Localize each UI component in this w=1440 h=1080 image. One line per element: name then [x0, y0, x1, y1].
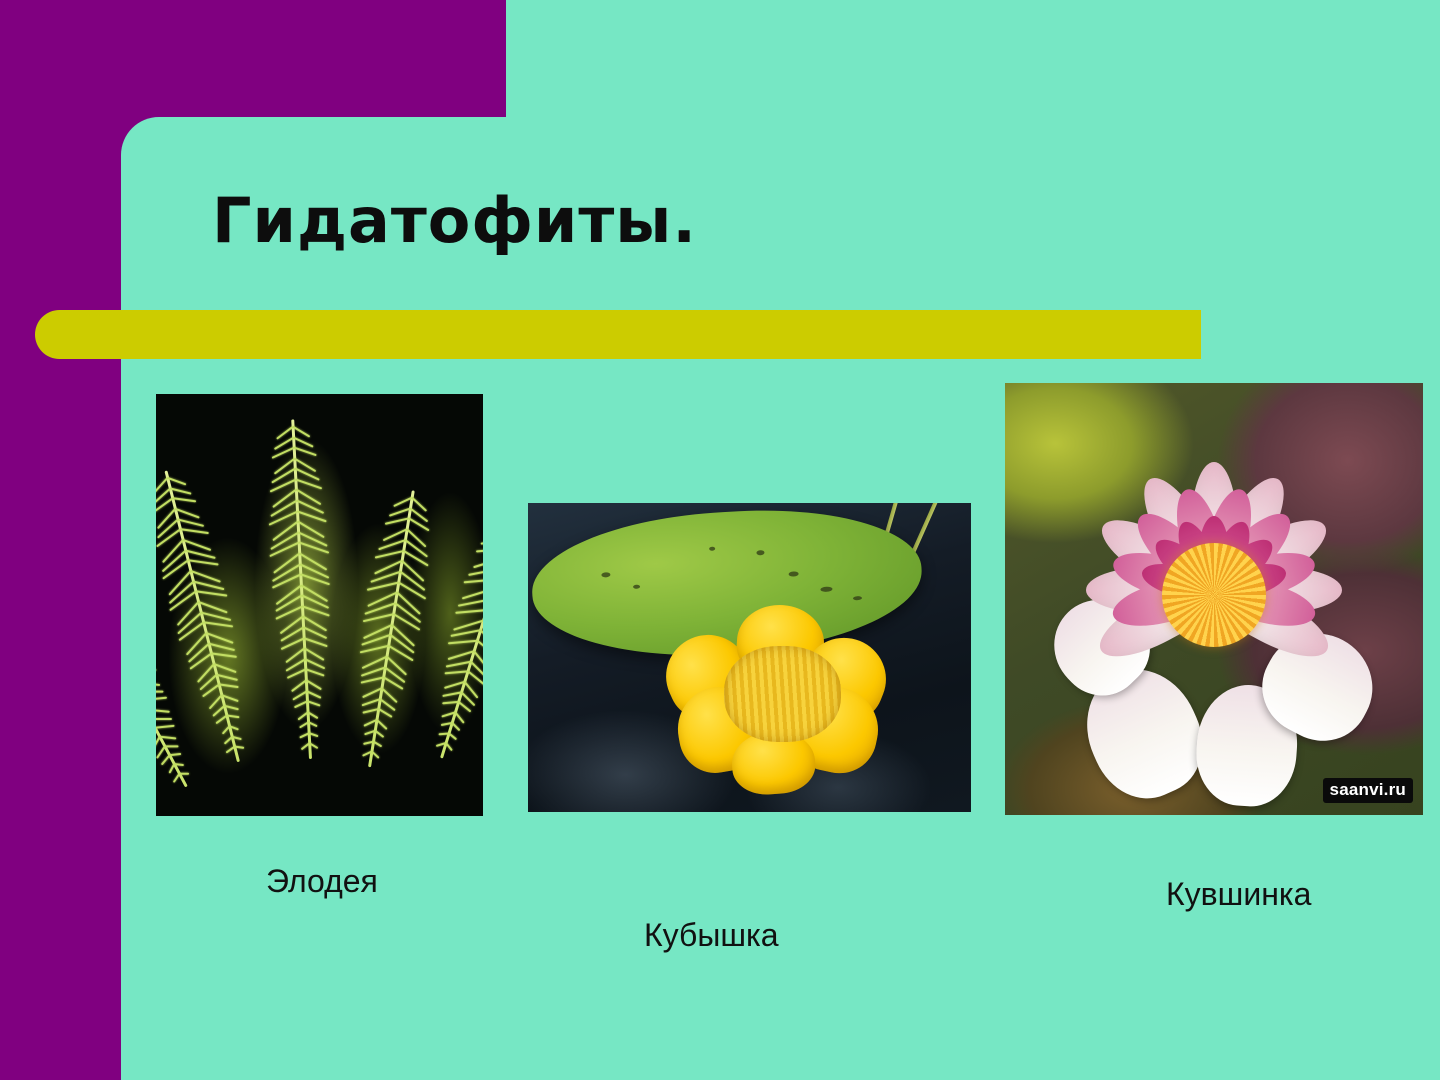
elodea-frond: [346, 487, 435, 771]
elodea-photo-content: [156, 394, 483, 816]
figure-image-kubyshka: [528, 503, 971, 812]
teal-top-strip: [506, 0, 1440, 121]
water-lily-stamens: [1162, 543, 1266, 647]
nuphar-stamens: [724, 646, 841, 742]
page-title: Гидатофиты.: [212, 190, 697, 252]
figure-image-elodea: [156, 394, 483, 816]
kuvshinka-photo-content: saanvi.ru: [1005, 383, 1423, 815]
elodea-frond: [269, 419, 333, 761]
slide-canvas: Гидатофиты.: [0, 0, 1440, 1080]
nuphar-flower: [674, 605, 882, 790]
figure-caption-kuvshinka: Кувшинка: [1166, 876, 1311, 913]
image-watermark: saanvi.ru: [1323, 778, 1413, 803]
kubyshka-photo-content: [528, 503, 971, 812]
figure-caption-elodea: Элодея: [266, 863, 378, 900]
figure-image-kuvshinka: saanvi.ru: [1005, 383, 1423, 815]
yellow-accent-bar: [35, 310, 1201, 359]
figure-caption-kubyshka: Кубышка: [644, 917, 779, 954]
